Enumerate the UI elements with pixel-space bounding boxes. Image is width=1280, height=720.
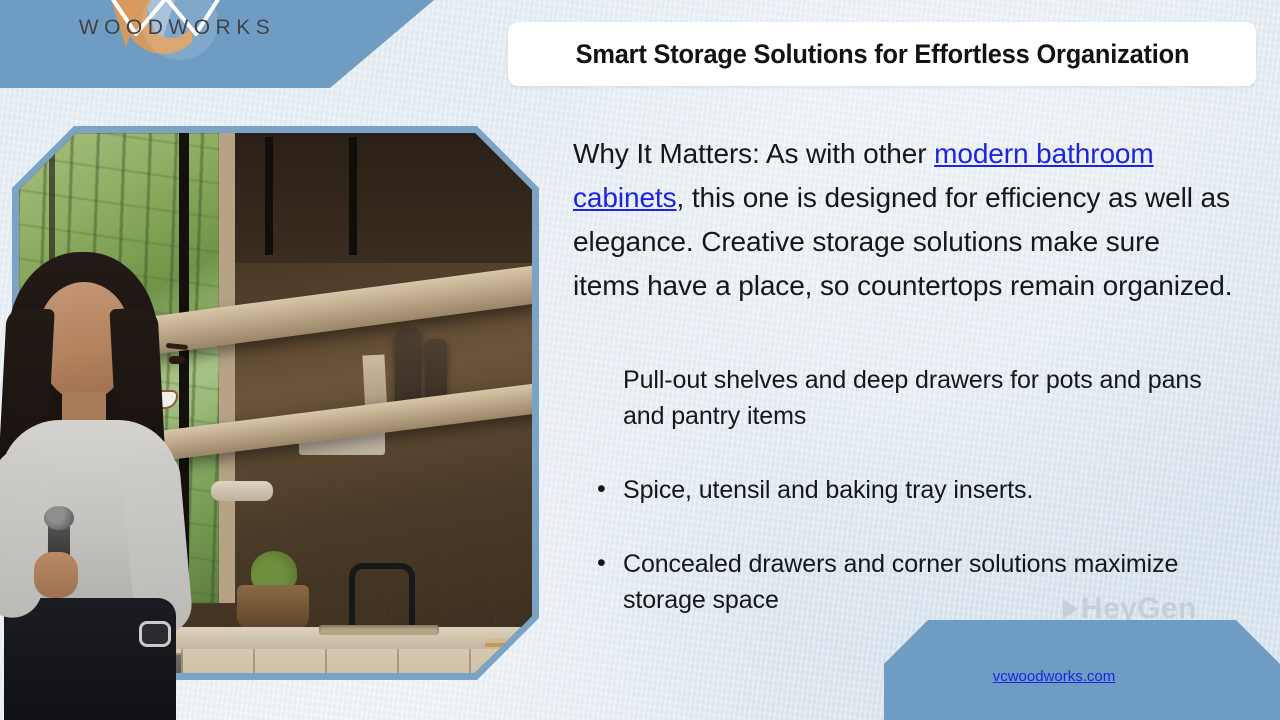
presenter-eye	[169, 356, 185, 364]
plant-pot	[237, 585, 309, 629]
sink	[319, 625, 439, 635]
decor-plant	[229, 551, 315, 629]
list-item: Concealed drawers and corner solutions m…	[593, 546, 1243, 618]
slide-title-card: Smart Storage Solutions for Effortless O…	[508, 22, 1256, 86]
list-item-label: Concealed drawers and corner solutions m…	[623, 550, 1178, 614]
paragraph-lead: Why It Matters: As with other	[573, 138, 934, 169]
list-item-label: Pull-out shelves and deep drawers for po…	[623, 366, 1202, 430]
presenter-pants	[4, 598, 176, 720]
feature-bullet-list: Pull-out shelves and deep drawers for po…	[593, 362, 1243, 656]
cabinet-gap	[349, 137, 357, 255]
page-title: Smart Storage Solutions for Effortless O…	[575, 39, 1189, 70]
presenter-hand	[34, 552, 78, 598]
brand-logo[interactable]: WOODWORKS	[62, 0, 292, 82]
vc-monogram-icon	[62, 0, 292, 82]
window-frame	[219, 133, 235, 603]
list-item: Pull-out shelves and deep drawers for po…	[593, 362, 1243, 434]
site-url-link[interactable]: vcwoodworks.com	[884, 668, 1224, 685]
presenter-avatar	[0, 252, 194, 720]
upper-cabinet-recess	[235, 133, 532, 263]
presenter-eyebrow	[166, 343, 188, 350]
list-item-label: Spice, utensil and baking tray inserts.	[623, 476, 1033, 504]
list-item: Spice, utensil and baking tray inserts.	[593, 472, 1243, 508]
stacked-bowls	[211, 481, 273, 501]
decor-vase	[395, 329, 421, 407]
cabinet-gap	[265, 137, 273, 255]
logo-wordmark: WOODWORKS	[62, 16, 292, 40]
content-column: Why It Matters: As with other modern bat…	[573, 132, 1233, 308]
presenter-wristwatch	[142, 624, 168, 644]
intro-paragraph: Why It Matters: As with other modern bat…	[573, 132, 1233, 308]
slide-canvas: WOODWORKS Smart Storage Solutions for Ef…	[0, 0, 1280, 720]
